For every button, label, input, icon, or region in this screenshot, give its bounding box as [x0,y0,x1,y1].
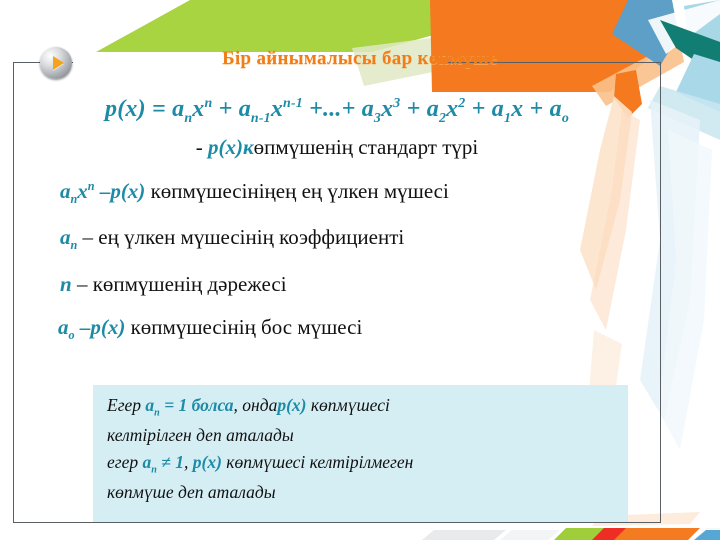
definition-constant-term: ao –p(x) көпмүшесінің бос мүшесі [58,317,660,341]
dash: – [77,272,88,296]
definition-degree: n – көпмүшенің дәрежесі [60,274,660,295]
dash: – [80,315,91,339]
definition-text: көпмүшесініңең ең үлкен мүшесі [151,179,449,203]
note-box: Егер an = 1 болса, ондаp(x) көпмүшесі ке… [93,385,628,522]
dash: - [196,135,203,159]
slide-canvas: Бір айнымалысы бар көпмүше p(x) = anxn +… [0,0,720,540]
page-title: Бір айнымалысы бар көпмүше [0,48,720,70]
definition-leading-coefficient: an – ең үлкен мүшесінің коэффициенті [60,227,660,251]
term-px: p(x) [90,315,125,339]
definition-text: ең үлкен мүшесінің коэффициенті [98,225,404,249]
formula-plus-4: + [472,96,486,122]
term-px: p(x) [110,179,145,203]
formula-plus-5: + [530,96,544,122]
formula-term-2: an-1xn-1 [239,96,303,122]
definition-text: көпмүшесінің бос мүшесі [131,315,363,339]
term-px-tail: к [243,135,254,159]
polynomial-formula: p(x) = anxn + an-1xn-1 +...+ a3x3 + a2x2… [14,96,660,127]
formula-equals: = [152,96,166,122]
note-term-px: p(x) [277,395,306,415]
formula-term-5: a1x [492,96,524,122]
body-content: p(x) = anxn + an-1xn-1 +...+ a3x3 + a2x2… [14,96,660,341]
formula-term-6: ao [550,96,569,122]
definition-standard-form: - p(x)көпмүшенің стандарт түрі [14,137,660,158]
note-line-4: көпмүше деп аталады [107,482,614,504]
formula-term-3: a3x3 [362,96,401,122]
formula-lhs: p(x) [105,96,146,122]
note-term-an-2: an [143,452,157,472]
term-an: an [60,225,77,249]
term-anxn: anxn [60,179,95,203]
definition-text: өпмүшенің стандарт түрі [254,135,479,159]
note-line-1: Егер an = 1 болса, ондаp(x) көпмүшесі [107,395,614,420]
term-n: n [60,272,72,296]
note-term-px-2: p(x) [193,452,222,472]
definition-text: көпмүшенің дәрежесі [93,272,287,296]
formula-plus-3: + [407,96,421,122]
dash: – [100,179,111,203]
formula-term-1: anxn [172,96,212,122]
formula-plus-2: +...+ [309,96,355,122]
formula-plus-1: + [219,96,233,122]
note-line-3: егер an ≠ 1, p(x) көпмүшесі келтірілмеге… [107,452,614,477]
note-line-2: келтірілген деп аталады [107,425,614,447]
dash: – [83,225,94,249]
formula-term-4: a2x2 [427,96,466,122]
definition-leading-term: anxn –p(x) көпмүшесініңең ең үлкен мүшес… [60,180,660,205]
term-a0: ao [58,315,75,339]
note-term-an: an [145,395,159,415]
term-px: p(x) [208,135,243,159]
